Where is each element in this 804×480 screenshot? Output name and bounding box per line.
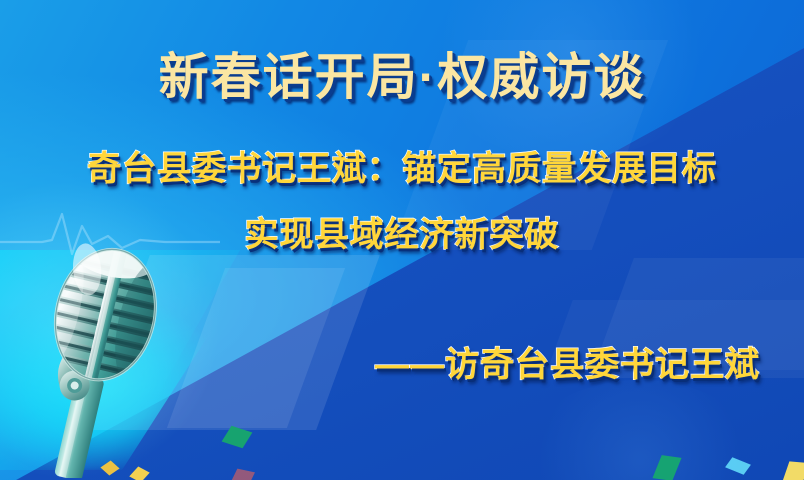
subtitle-line-1: 奇台县委书记王斌：锚定高质量发展目标 xyxy=(0,152,804,186)
page-title: 新春话开局·权威访谈 xyxy=(0,52,804,102)
byline-attribution: ——访奇台县委书记王斌 xyxy=(375,348,760,382)
retro-microphone-icon xyxy=(28,228,178,478)
subtitle-line-2: 实现县域经济新突破 xyxy=(0,218,804,252)
news-banner-graphic: 新春话开局·权威访谈 奇台县委书记王斌：锚定高质量发展目标 实现县域经济新突破 … xyxy=(0,0,804,480)
